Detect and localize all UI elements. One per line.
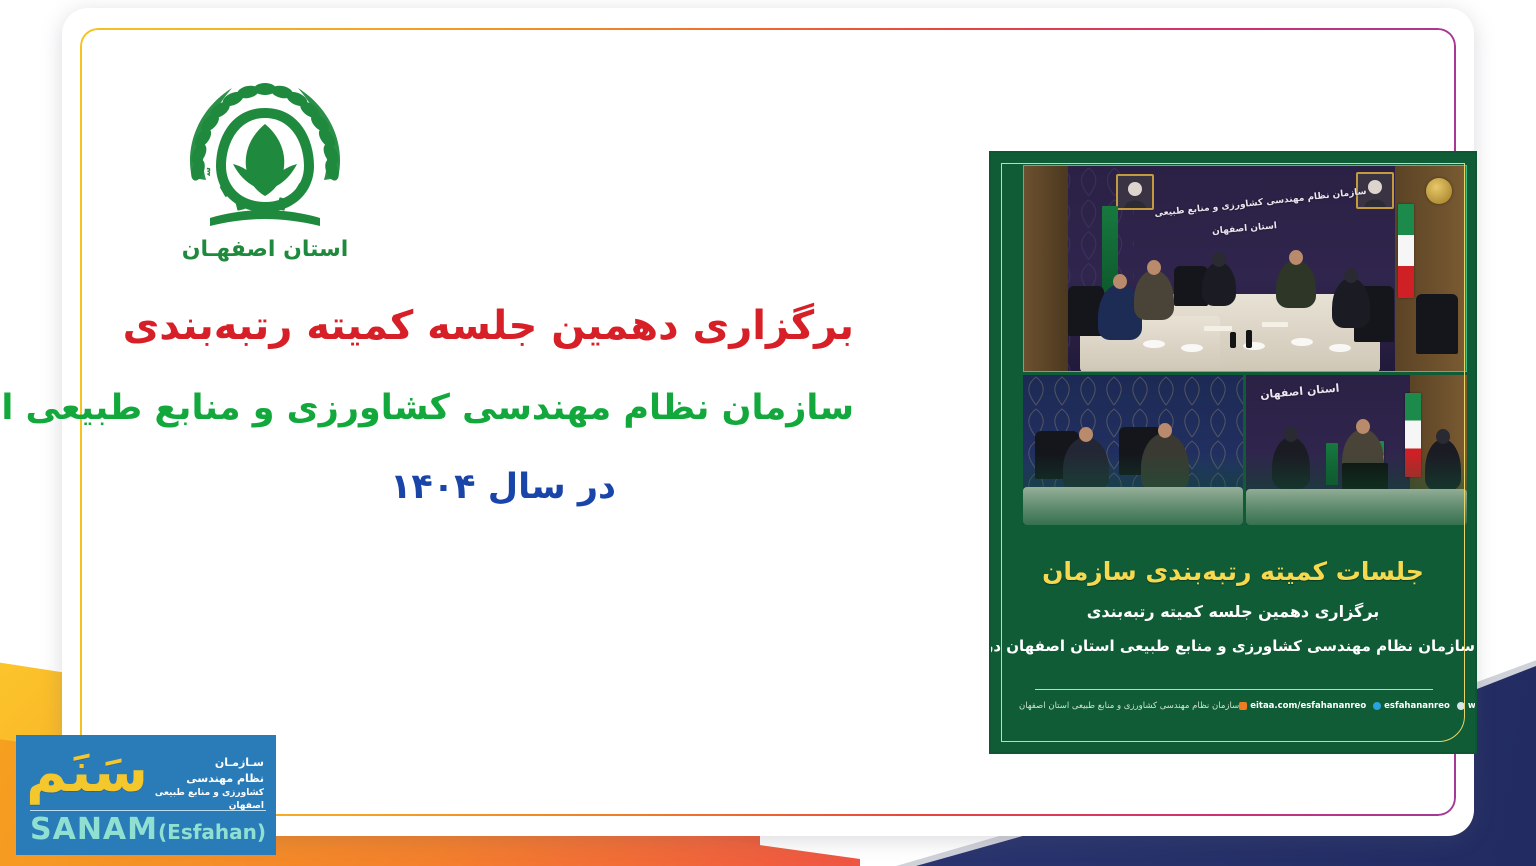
title-line-1: برگزاری دهمین جلسه کمیته رتبه‌بندی (152, 296, 854, 356)
sanam-fa-line-1: سـازمـان (146, 755, 264, 771)
sanam-fa-line-2: نظام مهندسی (146, 771, 264, 787)
photo-fade-overlay (1023, 453, 1467, 543)
portrait-left (1116, 174, 1154, 210)
meeting-photo-top: سازمان نظام مهندسی کشاورزی و منابع طبیعی… (1023, 165, 1467, 372)
poster-headline: جلسات کمیته رتبه‌بندی سازمان (991, 557, 1475, 586)
sanam-en-suffix: (Esfahan) (158, 820, 266, 844)
table-items (1134, 306, 1364, 356)
eitaa-link[interactable]: eitaa.com/esfahananreo (1239, 701, 1366, 711)
page-title: برگزاری دهمین جلسه کمیته رتبه‌بندی سازما… (152, 296, 854, 513)
telegram-link[interactable]: esfahananreo (1373, 701, 1450, 711)
main-card: سازمان نظام مهندسی کشاورزی و منابع طبیعی… (62, 8, 1474, 836)
eitaa-icon (1239, 702, 1247, 710)
title-line-3: در سال ۱۴۰۴ (152, 461, 854, 514)
website-link[interactable]: www.agriengs.ir (1457, 701, 1477, 711)
sanam-persian-text: سـازمـان نظام مهندسی کشاورزی و منابع طبی… (146, 755, 264, 813)
telegram-icon (1373, 702, 1381, 710)
iran-flag (1398, 204, 1414, 298)
backdrop-text-mid-right: استان اصفهان (1260, 382, 1340, 402)
sanam-logo: سَنَم سـازمـان نظام مهندسی کشاورزی و منا… (16, 735, 276, 855)
room-backdrop: سازمان نظام مهندسی کشاورزی و منابع طبیعی… (1024, 166, 1466, 371)
telegram-link-label: esfahananreo (1384, 701, 1450, 711)
website-link-label: www.agriengs.ir (1468, 701, 1477, 711)
title-line-2: سازمان نظام مهندسی کشاورزی و منابع طبیعی… (152, 382, 854, 435)
eitaa-link-label: eitaa.com/esfahananreo (1250, 701, 1366, 711)
globe-icon (1457, 702, 1465, 710)
wall-left-panel (1024, 166, 1068, 371)
footer-social-links: eitaa.com/esfahananreo esfahananreo www.… (1239, 701, 1477, 711)
sanam-en-label: SANAM (30, 812, 158, 847)
poster-divider (1035, 689, 1433, 690)
footer-organization-name: سازمان نظام مهندسی کشاورزی و منابع طبیعی… (1019, 701, 1239, 711)
attendee (1202, 262, 1236, 306)
chair (1416, 294, 1458, 354)
emblem-caption: استان اصفهـان (182, 237, 349, 262)
poster-canvas: سازمان نظام مهندسی کشاورزی و منابع طبیعی… (0, 0, 1536, 866)
gold-seal-emblem (1426, 178, 1452, 204)
poster-subtitle-1: برگزاری دهمین جلسه کمیته رتبه‌بندی (991, 602, 1475, 621)
poster-subtitle-2: سازمان نظام مهندسی کشاورزی و منابع طبیعی… (991, 637, 1475, 655)
poster-text-band: جلسات کمیته رتبه‌بندی سازمان برگزاری دهم… (991, 539, 1475, 752)
poster-footer: سازمان نظام مهندسی کشاورزی و منابع طبیعی… (1019, 701, 1447, 711)
sanam-calligraphy: سَنَم (26, 745, 148, 801)
sanam-english-text: SANAM(Esfahan) (30, 813, 266, 846)
sanam-divider (30, 810, 266, 811)
organization-emblem-logo: سازمان نظام مهندسی کشاورزی و منابع طبیعی… (170, 66, 360, 266)
event-poster-card: سازمان نظام مهندسی کشاورزی و منابع طبیعی… (989, 151, 1477, 754)
